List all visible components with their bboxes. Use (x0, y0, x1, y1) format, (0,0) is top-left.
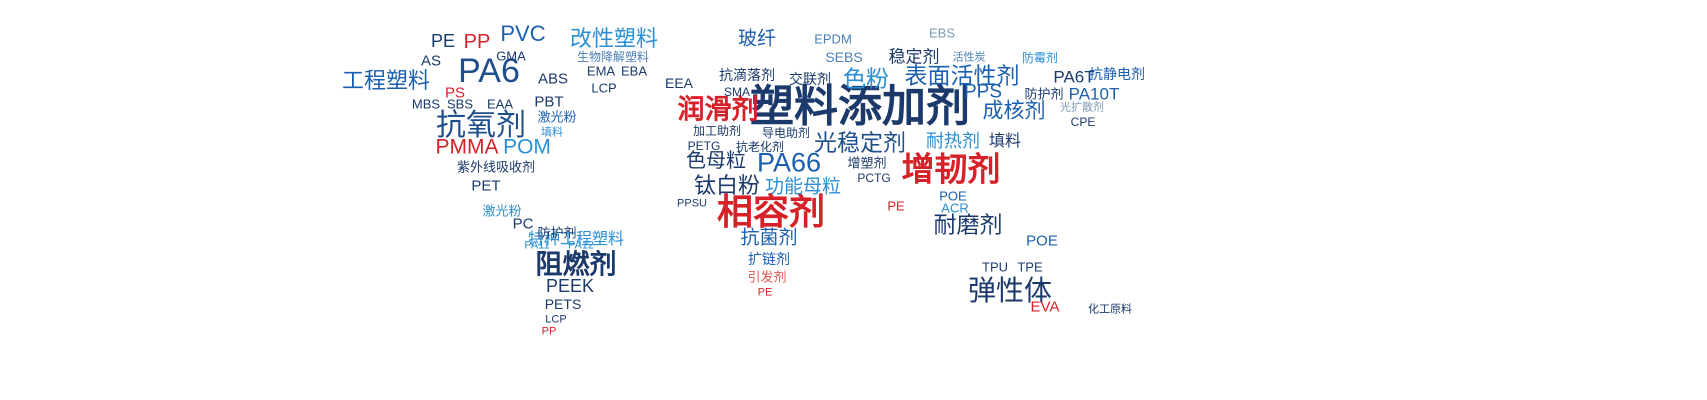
word-plasticizer[interactable]: 增塑剂 (847, 157, 886, 170)
word-pp-1[interactable]: PP (464, 32, 491, 52)
word-pc[interactable]: PC (513, 217, 534, 232)
word-pe-2[interactable]: PE (887, 200, 904, 213)
word-heat-resistant-agent[interactable]: 耐热剂 (926, 132, 980, 150)
word-protective-agent-1[interactable]: 防护剂 (537, 227, 576, 240)
word-gma[interactable]: GMA (496, 50, 526, 63)
word-plastic-additives[interactable]: 塑料添加剂 (750, 85, 970, 129)
word-eaa[interactable]: EAA (487, 98, 513, 111)
word-peek[interactable]: PEEK (546, 277, 594, 295)
word-activated-carbon[interactable]: 活性炭 (953, 53, 986, 64)
word-lubricant[interactable]: 润滑剂 (678, 97, 759, 124)
word-antifungal-agent[interactable]: 防霉剂 (1022, 52, 1058, 64)
word-pa10t[interactable]: PA10T (1069, 86, 1120, 103)
word-ppsu[interactable]: PPSU (677, 199, 707, 210)
word-pigment-powder[interactable]: 色粉 (843, 68, 889, 91)
word-modified-plastics[interactable]: 改性塑料 (570, 28, 658, 50)
word-filler-2[interactable]: 填料 (989, 134, 1021, 150)
word-conductive-aid[interactable]: 导电助剂 (762, 127, 810, 139)
word-ema[interactable]: EMA (587, 65, 615, 78)
word-anti-drip-agent[interactable]: 抗滴落剂 (719, 68, 775, 82)
word-chemical-raw-materials[interactable]: 化工原料 (1088, 305, 1132, 316)
word-chain-extender[interactable]: 扩链剂 (748, 252, 790, 266)
word-lcp-1[interactable]: LCP (591, 82, 616, 95)
word-crosslinker[interactable]: 交联剂 (789, 72, 831, 86)
word-surfactant[interactable]: 表面活性剂 (905, 65, 1020, 88)
word-sma[interactable]: SMA (724, 86, 750, 98)
word-toughener[interactable]: 增韧剂 (902, 153, 1001, 186)
word-color-masterbatch[interactable]: 色母粒 (686, 151, 746, 171)
word-protective-agent-2[interactable]: 防护剂 (1024, 88, 1063, 101)
word-titanium-dioxide[interactable]: 钛白粉 (694, 175, 760, 197)
word-abs[interactable]: ABS (538, 72, 568, 87)
word-lcp-2[interactable]: LCP (545, 315, 566, 326)
word-pom[interactable]: POM (503, 137, 551, 158)
word-light-stabilizer[interactable]: 光稳定剂 (814, 132, 906, 155)
word-pctg[interactable]: PCTG (857, 172, 890, 184)
word-antistatic-agent[interactable]: 抗静电剂 (1089, 67, 1145, 81)
word-compatibilizer[interactable]: 相容剂 (717, 194, 825, 230)
word-pe-3[interactable]: PE (758, 288, 773, 299)
word-initiator[interactable]: 引发剂 (747, 271, 786, 284)
word-pmma[interactable]: PMMA (436, 137, 499, 158)
word-sbs[interactable]: SBS (447, 98, 473, 111)
word-laser-powder-1[interactable]: 激光粉 (537, 111, 576, 124)
word-nucleating-agent[interactable]: 成核剂 (983, 101, 1046, 122)
word-glass-fiber[interactable]: 玻纤 (738, 30, 776, 49)
word-tpu[interactable]: TPU (982, 261, 1008, 274)
word-eea-2[interactable]: EEA (665, 76, 693, 90)
word-petg[interactable]: PETG (688, 140, 721, 152)
word-engineering-plastics[interactable]: 工程塑料 (342, 70, 430, 92)
word-pets[interactable]: PETS (545, 297, 582, 311)
word-filler-1[interactable]: 填料 (541, 128, 563, 139)
word-cpe[interactable]: CPE (1071, 116, 1096, 128)
word-ebs[interactable]: EBS (929, 27, 955, 40)
word-acr[interactable]: ACR (941, 202, 968, 215)
word-tpe[interactable]: TPE (1017, 261, 1042, 274)
word-flame-retardant[interactable]: 阻燃剂 (536, 252, 617, 279)
word-biodegradable-plastics[interactable]: 生物降解塑料 (577, 51, 649, 63)
word-uv-absorber[interactable]: 紫外线吸收剂 (457, 161, 535, 174)
word-pet[interactable]: PET (471, 179, 500, 194)
word-eva[interactable]: EVA (1031, 300, 1060, 315)
word-processing-aid[interactable]: 加工助剂 (693, 125, 741, 137)
word-pp-2[interactable]: PP (542, 327, 557, 338)
word-wear-resistant-agent[interactable]: 耐磨剂 (934, 214, 1003, 237)
word-mbs[interactable]: MBS (412, 98, 440, 111)
word-antibacterial-agent[interactable]: 抗菌剂 (740, 229, 797, 248)
word-light-diffusion-agent[interactable]: 光扩散剂 (1060, 103, 1104, 114)
word-pvc[interactable]: PVC (500, 23, 545, 45)
word-pe-1[interactable]: PE (431, 32, 455, 50)
word-as[interactable]: AS (421, 54, 441, 69)
word-anti-aging-agent[interactable]: 抗老化剂 (736, 141, 784, 153)
word-sebs[interactable]: SEBS (825, 50, 862, 64)
word-epdm[interactable]: EPDM (814, 33, 852, 46)
word-pa11[interactable]: PA11 (524, 241, 549, 252)
word-stabilizer[interactable]: 稳定剂 (889, 49, 940, 66)
word-cloud-canvas: 塑料添加剂相容剂增韧剂阻燃剂润滑剂抗氧剂表面活性剂光稳定剂弹性体耐磨剂PA6PA… (0, 0, 1707, 400)
word-functional-masterbatch[interactable]: 功能母粒 (765, 178, 841, 197)
word-eba[interactable]: EBA (621, 65, 647, 78)
word-pps[interactable]: PPS (964, 83, 1002, 102)
word-poe-2[interactable]: POE (1026, 234, 1058, 249)
word-pa12[interactable]: PA12 (568, 241, 594, 252)
word-pbt[interactable]: PBT (534, 95, 563, 110)
